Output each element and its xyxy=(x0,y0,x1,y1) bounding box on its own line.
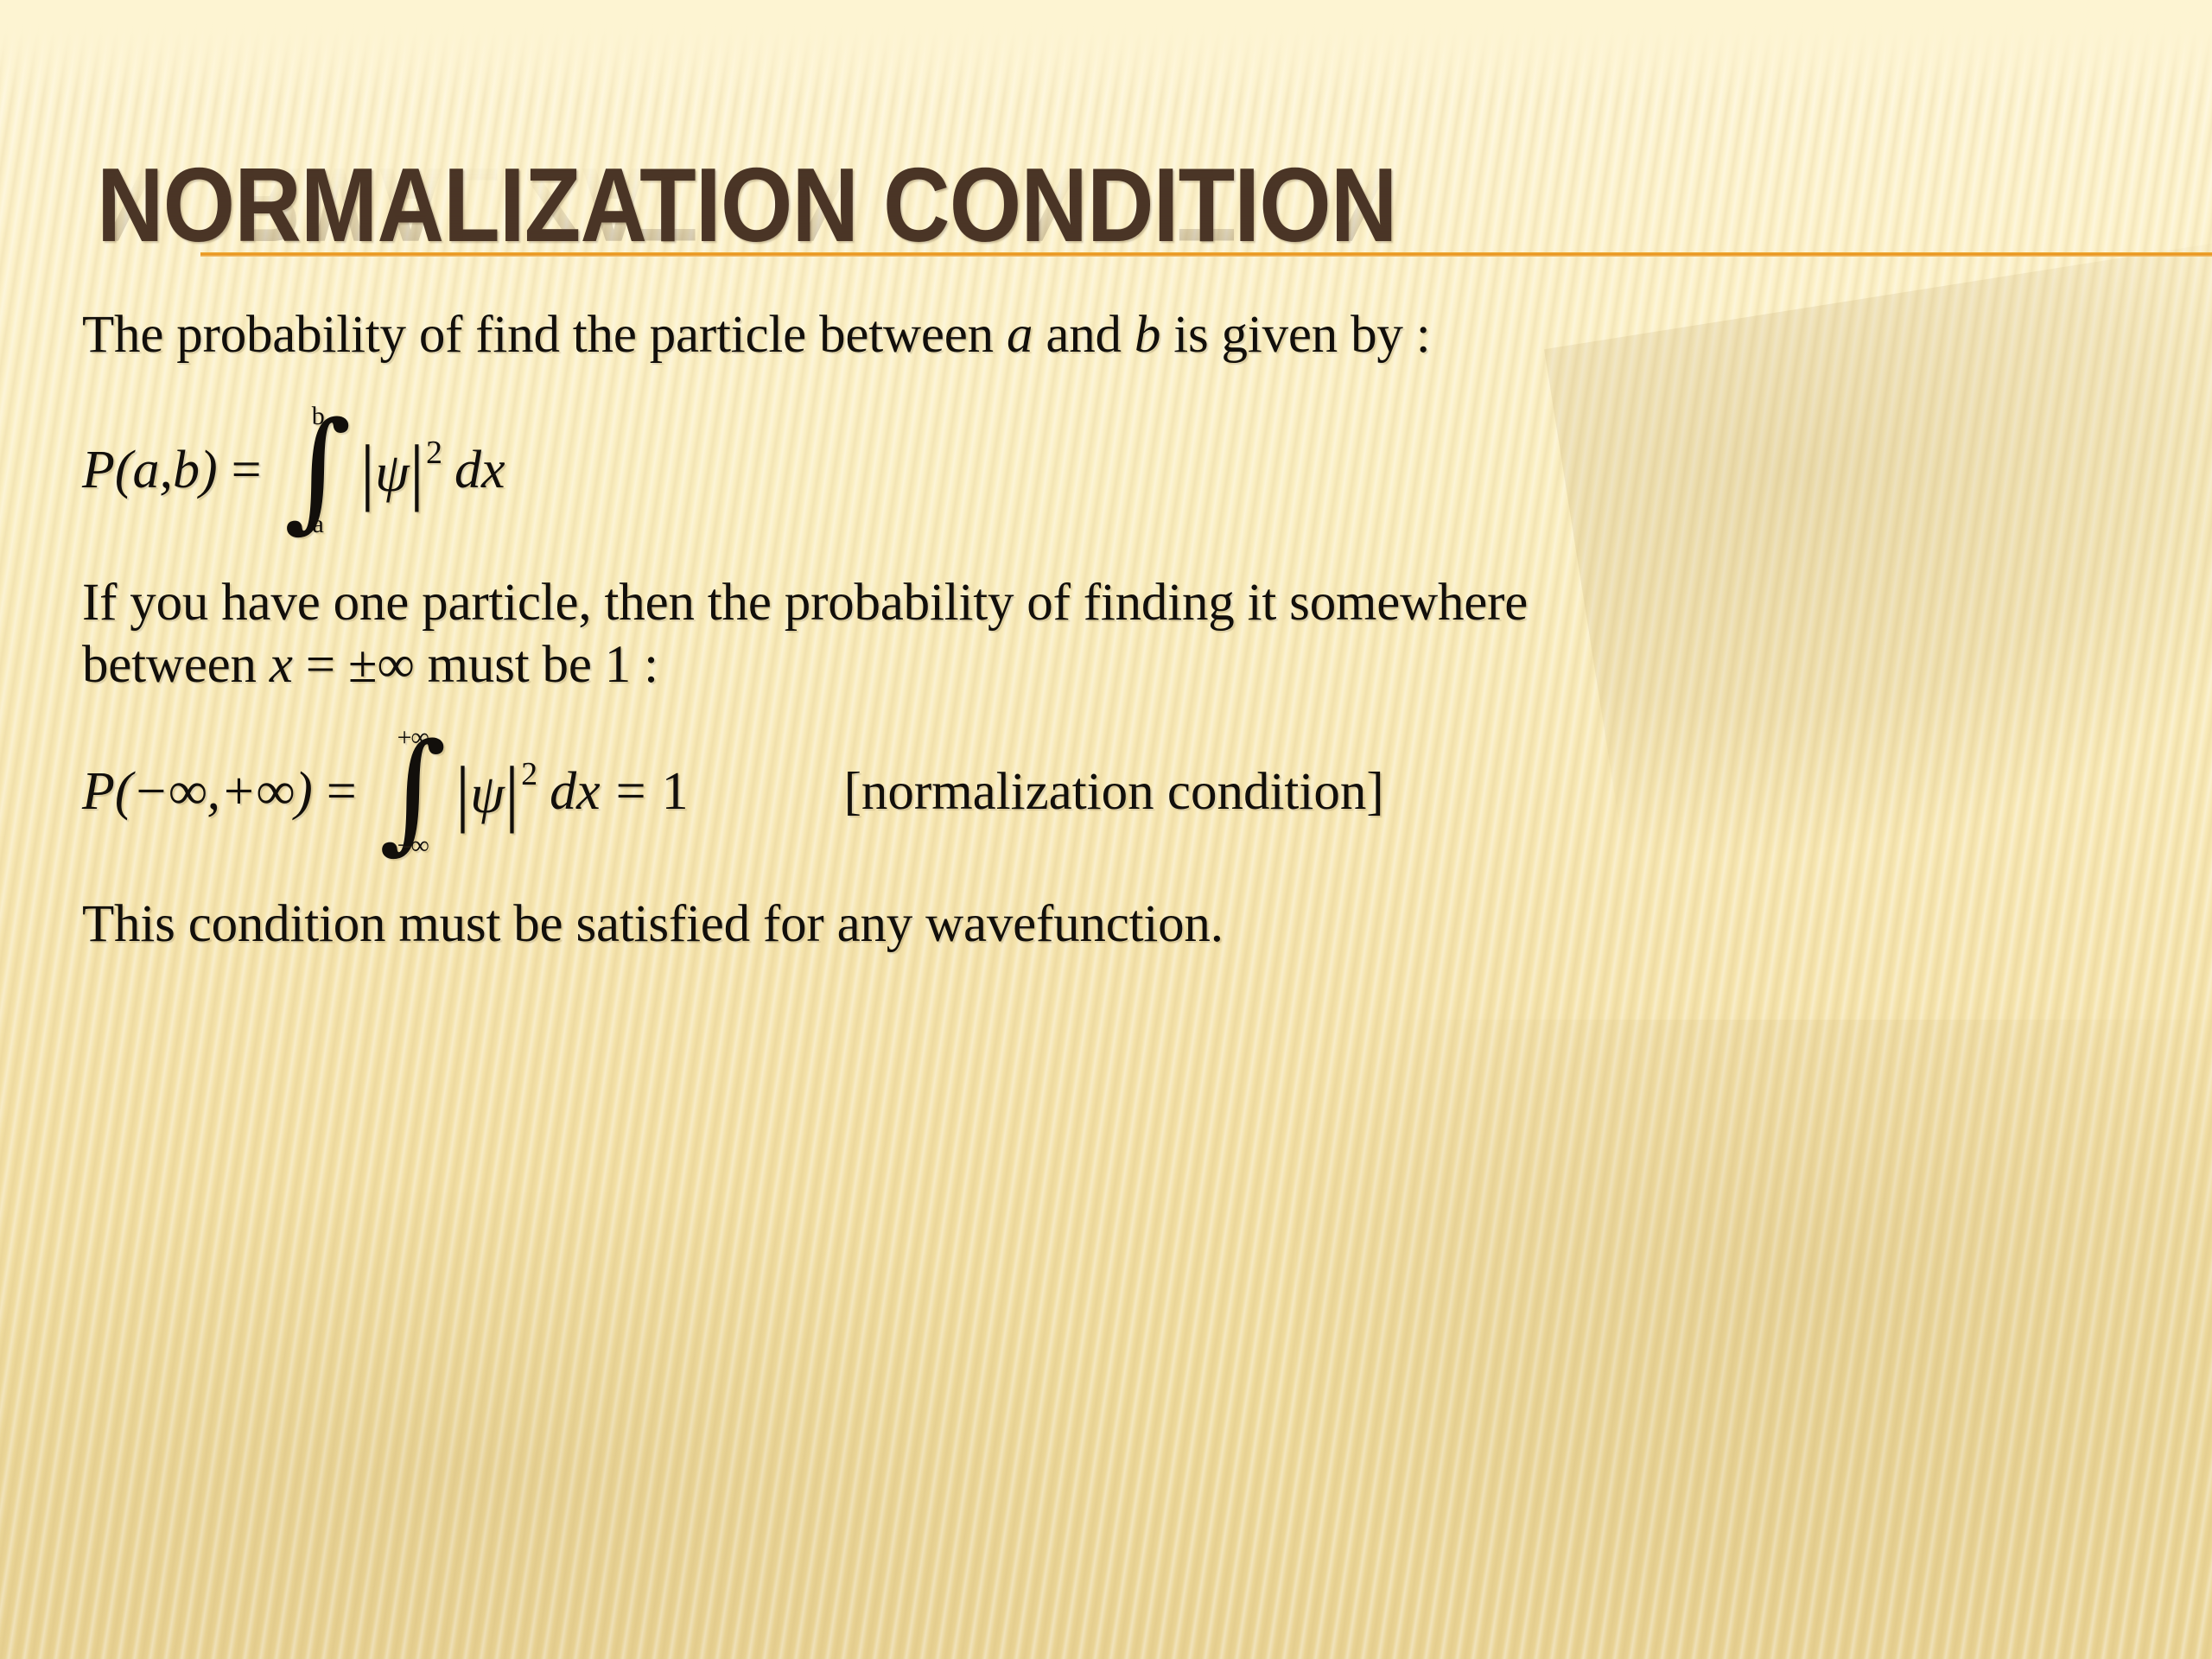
paragraph-probability-intro: The probability of find the particle bet… xyxy=(82,304,2147,365)
differential-dx-1: dx xyxy=(454,440,505,501)
equation-1-equals-sign: = xyxy=(232,440,262,501)
integral-lower-limit-2: −∞ xyxy=(397,833,429,859)
integral-sign-group-2: +∞ ∫ −∞ xyxy=(379,725,447,859)
math-var-a: a xyxy=(1007,306,1033,364)
equation-1-lhs: P(a,b) xyxy=(82,440,218,501)
title-underline-rule xyxy=(200,252,2212,257)
equation-annotation-normalization-condition: [normalization condition] xyxy=(844,762,1384,823)
background-shadow-lower-right xyxy=(1296,1020,2212,1659)
paragraph-one-particle-line2: between x = ±∞ must be 1 : xyxy=(82,634,2026,696)
abs-bar-close-2: | xyxy=(505,751,519,834)
wavefunction-symbol-2: ψ xyxy=(470,763,505,824)
paragraph-2-lead: between xyxy=(82,636,270,694)
equation-normalization-row: P(−∞,+∞) = +∞ ∫ −∞ |ψ|2 dx = 1 [normaliz… xyxy=(82,725,2147,859)
equation-normalization: P(−∞,+∞) = +∞ ∫ −∞ |ψ|2 dx = 1 xyxy=(82,725,689,859)
equation-2-lhs: P(−∞,+∞) xyxy=(82,761,313,823)
integral-lower-limit-1: a xyxy=(313,512,323,537)
exponent-two-1: 2 xyxy=(426,435,442,471)
math-var-x: x xyxy=(270,636,293,694)
integral-sign-group-1: b ∫ a xyxy=(284,404,352,537)
equation-2-result-equals: = xyxy=(616,761,646,823)
abs-bar-open-1: | xyxy=(360,429,375,512)
spacer-2 xyxy=(82,537,2147,572)
slide-body: The probability of find the particle bet… xyxy=(82,304,2147,955)
math-var-b: b xyxy=(1135,306,1160,364)
abs-bar-close-1: | xyxy=(410,429,424,512)
page-title: Normalization condition xyxy=(97,152,1922,257)
paragraph-1-mid: and xyxy=(1033,306,1135,364)
equation-probability-a-b: P(a,b) = b ∫ a |ψ|2 dx xyxy=(82,404,2147,537)
paragraph-condition-satisfied: This condition must be satisfied for any… xyxy=(82,893,2147,955)
spacer-1 xyxy=(82,365,2147,404)
wavefunction-symbol-1: ψ xyxy=(375,442,410,503)
slide: Normalization condition Normalization co… xyxy=(0,0,2212,1659)
paragraph-1-lead: The probability of find the particle bet… xyxy=(82,306,1007,364)
absolute-value-group-2: |ψ|2 xyxy=(455,755,537,829)
background-shadow-lower-left xyxy=(0,1192,1123,1659)
exponent-two-2: 2 xyxy=(521,756,537,792)
integral-icon: ∫ xyxy=(284,417,352,524)
abs-bar-open-2: | xyxy=(455,751,470,834)
paragraph-2-tail: = ±∞ must be 1 : xyxy=(293,636,658,694)
differential-dx-2: dx xyxy=(550,761,601,823)
paragraph-one-particle-line1: If you have one particle, then the proba… xyxy=(82,572,2026,633)
absolute-value-group-1: |ψ|2 xyxy=(360,434,442,508)
equation-2-equals-sign: = xyxy=(327,761,357,823)
equation-2-result-value: 1 xyxy=(662,761,689,823)
paragraph-1-tail: is given by : xyxy=(1160,306,1430,364)
integral-icon: ∫ xyxy=(379,739,447,845)
